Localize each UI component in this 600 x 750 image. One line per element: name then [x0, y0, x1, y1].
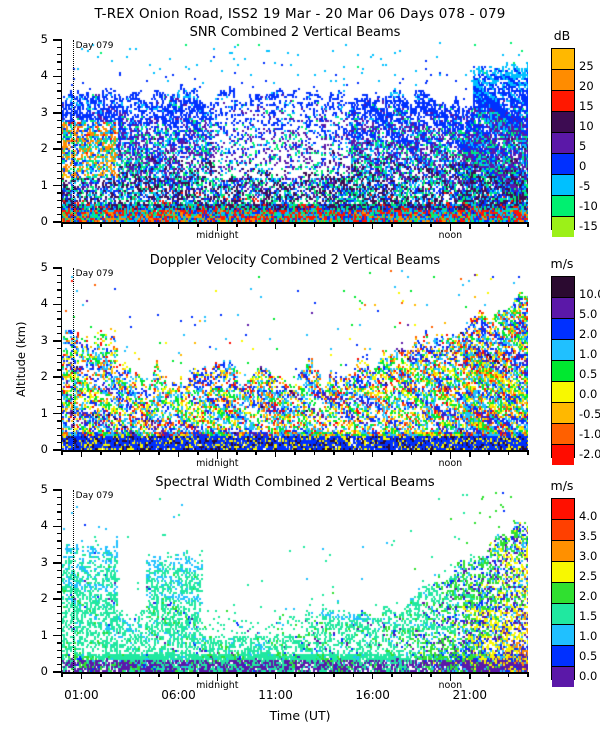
x-tick-label: 01:00	[41, 688, 121, 702]
x-tick-label: 16:00	[333, 688, 413, 702]
y-tick-minor	[57, 171, 62, 172]
y-tick-minor	[57, 61, 62, 62]
y-tick-minor	[57, 105, 62, 106]
colorbar-unit-spectral_width: m/s	[537, 478, 587, 493]
colorbar-tick-label: 2.0	[579, 589, 597, 603]
x-tick-minor	[411, 222, 413, 227]
colorbar-swatch	[552, 444, 574, 465]
plot-area-spectral_width	[62, 490, 528, 672]
colorbar-unit-snr: dB	[537, 28, 587, 43]
x-tick-major	[469, 672, 471, 679]
y-tick-label: 2	[26, 369, 48, 383]
y-tick-label: 3	[26, 105, 48, 119]
colorbar-swatch	[552, 132, 574, 153]
plot-area-snr	[62, 40, 528, 222]
x-tick-minor	[139, 672, 141, 677]
x-tick-minor	[411, 672, 413, 677]
colorbar-tick-label: 15	[579, 99, 594, 113]
x-tick-minor	[120, 672, 122, 677]
colorbar-tick-label: 0.5	[579, 367, 597, 381]
y-tick-minor	[57, 657, 62, 658]
y-tick-minor	[57, 504, 62, 505]
x-tick-major	[372, 222, 374, 229]
y-tick-minor	[57, 362, 62, 363]
y-tick-minor	[57, 369, 62, 370]
y-tick-minor	[57, 141, 62, 142]
x-tick-minor	[314, 672, 316, 677]
y-tick-minor	[57, 311, 62, 312]
colorbar-swatch	[552, 318, 574, 339]
y-tick-minor	[57, 613, 62, 614]
x-tick-minor	[333, 450, 335, 455]
y-tick-minor	[57, 355, 62, 356]
heatmap-doppler	[62, 268, 528, 450]
x-tick-minor	[158, 672, 160, 677]
y-tick-minor	[57, 519, 62, 520]
y-tick-minor	[57, 577, 62, 578]
y-tick-minor	[57, 348, 62, 349]
y-tick-minor	[57, 406, 62, 407]
y-tick-minor	[57, 326, 62, 327]
y-tick-minor	[57, 156, 62, 157]
y-tick-major	[53, 304, 62, 306]
y-tick-label: 0	[26, 214, 48, 228]
colorbar-spectral_width	[551, 498, 575, 680]
y-tick-major	[53, 489, 62, 491]
y-tick-minor	[57, 606, 62, 607]
y-tick-major	[53, 39, 62, 41]
y-tick-minor	[57, 548, 62, 549]
x-tick-minor	[411, 450, 413, 455]
x-tick-major	[372, 450, 374, 457]
colorbar-tick-label: 5	[579, 139, 586, 153]
x-tick-major	[275, 222, 277, 229]
colorbar-swatch	[552, 69, 574, 90]
y-tick-minor	[57, 399, 62, 400]
y-tick-label: 2	[26, 591, 48, 605]
panel-title-snr: SNR Combined 2 Vertical Beams	[62, 25, 528, 40]
y-tick-minor	[57, 442, 62, 443]
colorbar-tick-label: 2.5	[579, 569, 597, 583]
y-tick-minor	[57, 570, 62, 571]
y-axis-line-spectral_width	[61, 490, 63, 672]
x-tick-major	[178, 672, 180, 679]
x-tick-minor	[527, 222, 529, 227]
day-marker-label: Day 079	[76, 41, 114, 51]
colorbar-tick-label: 3.0	[579, 549, 597, 563]
y-tick-minor	[57, 384, 62, 385]
x-tick-minor	[508, 450, 510, 455]
y-tick-minor	[57, 318, 62, 319]
y-tick-minor	[57, 497, 62, 498]
x-tick-minor	[527, 672, 529, 677]
y-tick-minor	[57, 200, 62, 201]
x-tick-minor	[61, 222, 63, 227]
y-tick-minor	[57, 333, 62, 334]
x-tick-major	[81, 450, 83, 457]
y-tick-minor	[57, 289, 62, 290]
x-tick-minor	[527, 450, 529, 455]
y-tick-label: 5	[26, 32, 48, 46]
x-tick-minor	[100, 450, 102, 455]
y-tick-minor	[57, 120, 62, 121]
colorbar-tick-label: 5.0	[579, 307, 597, 321]
x-tick-major	[275, 672, 277, 679]
x-tick-minor	[139, 222, 141, 227]
x-tick-minor	[255, 450, 257, 455]
y-tick-minor	[57, 664, 62, 665]
y-tick-major	[53, 340, 62, 342]
x-tick-major	[275, 450, 277, 457]
colorbar-tick-label: -15	[579, 219, 598, 233]
y-tick-minor	[57, 420, 62, 421]
y-tick-label: 1	[26, 178, 48, 192]
y-tick-minor	[57, 54, 62, 55]
colorbar-tick-label: -0.5	[579, 407, 600, 421]
y-tick-minor	[57, 628, 62, 629]
y-tick-minor	[57, 178, 62, 179]
x-tick-minor	[391, 672, 393, 677]
day-marker-line	[73, 40, 74, 222]
colorbar-tick-label: 10.0	[579, 287, 600, 301]
colorbar-tick-label: 10	[579, 119, 594, 133]
y-tick-minor	[57, 69, 62, 70]
colorbar-snr	[551, 48, 575, 230]
y-tick-minor	[57, 47, 62, 48]
x-annotation-midnight: midnight	[187, 230, 247, 241]
heatmap-snr	[62, 40, 528, 222]
y-tick-minor	[57, 435, 62, 436]
x-tick-major	[469, 222, 471, 229]
colorbar-tick-label: 2.0	[579, 327, 597, 341]
y-tick-minor	[57, 621, 62, 622]
y-tick-minor	[57, 192, 62, 193]
colorbar-tick-label: -5	[579, 179, 590, 193]
y-tick-label: 1	[26, 628, 48, 642]
y-tick-major	[53, 598, 62, 600]
x-tick-minor	[430, 450, 432, 455]
x-tick-minor	[294, 222, 296, 227]
y-tick-major	[53, 267, 62, 269]
y-tick-minor	[57, 90, 62, 91]
colorbar-tick-label: 0.5	[579, 649, 597, 663]
colorbar-tick-label: 1.5	[579, 609, 597, 623]
x-tick-minor	[158, 222, 160, 227]
colorbar-swatch	[552, 216, 574, 237]
x-tick-minor	[139, 450, 141, 455]
x-annotation-noon: noon	[420, 458, 480, 469]
x-tick-minor	[391, 222, 393, 227]
figure-root: T-REX Onion Road, ISS2 19 Mar - 20 Mar 0…	[0, 0, 600, 750]
day-marker-line	[73, 268, 74, 450]
y-tick-label: 0	[26, 664, 48, 678]
x-tick-minor	[120, 450, 122, 455]
x-tick-minor	[353, 450, 355, 455]
y-tick-minor	[57, 297, 62, 298]
colorbar-tick-label: 3.5	[579, 529, 597, 543]
day-marker-label: Day 079	[76, 491, 114, 501]
y-tick-minor	[57, 591, 62, 592]
y-tick-major	[53, 413, 62, 415]
x-tick-minor	[314, 450, 316, 455]
x-tick-minor	[508, 222, 510, 227]
x-tick-major	[178, 450, 180, 457]
x-tick-label: 11:00	[236, 688, 316, 702]
x-tick-minor	[100, 222, 102, 227]
x-axis-title: Time (UT)	[0, 708, 600, 723]
colorbar-swatch	[552, 90, 574, 111]
y-tick-label: 0	[26, 442, 48, 456]
colorbar-tick-label: 0	[579, 159, 586, 173]
colorbar-swatch	[552, 603, 574, 624]
x-tick-minor	[197, 450, 199, 455]
x-tick-minor	[488, 222, 490, 227]
y-tick-minor	[57, 642, 62, 643]
y-tick-minor	[57, 540, 62, 541]
y-tick-label: 4	[26, 68, 48, 82]
colorbar-tick-label: 1.0	[579, 347, 597, 361]
colorbar-swatch	[552, 519, 574, 540]
colorbar-swatch	[552, 561, 574, 582]
x-tick-minor	[255, 672, 257, 677]
y-tick-minor	[57, 214, 62, 215]
colorbar-swatch	[552, 153, 574, 174]
colorbar-swatch	[552, 624, 574, 645]
x-tick-minor	[333, 222, 335, 227]
y-tick-label: 2	[26, 141, 48, 155]
y-tick-major	[53, 185, 62, 187]
x-tick-major	[81, 222, 83, 229]
figure-title: T-REX Onion Road, ISS2 19 Mar - 20 Mar 0…	[0, 6, 600, 22]
colorbar-swatch	[552, 402, 574, 423]
y-tick-label: 5	[26, 482, 48, 496]
x-tick-minor	[353, 222, 355, 227]
y-tick-major	[53, 562, 62, 564]
colorbar-doppler	[551, 276, 575, 458]
x-tick-minor	[430, 672, 432, 677]
colorbar-swatch	[552, 666, 574, 687]
x-annotation-noon: noon	[420, 230, 480, 241]
colorbar-swatch	[552, 174, 574, 195]
x-tick-minor	[120, 222, 122, 227]
y-axis-line-doppler	[61, 268, 63, 450]
x-tick-minor	[236, 672, 238, 677]
y-tick-label: 4	[26, 296, 48, 310]
colorbar-swatch	[552, 381, 574, 402]
x-tick-minor	[294, 672, 296, 677]
y-tick-minor	[57, 428, 62, 429]
colorbar-swatch	[552, 645, 574, 666]
x-tick-label: 06:00	[139, 688, 219, 702]
y-tick-minor	[57, 98, 62, 99]
y-tick-label: 3	[26, 555, 48, 569]
panel-title-spectral_width: Spectral Width Combined 2 Vertical Beams	[62, 475, 528, 490]
y-tick-minor	[57, 391, 62, 392]
x-annotation-midnight: midnight	[187, 458, 247, 469]
y-axis-line-snr	[61, 40, 63, 222]
y-tick-major	[53, 376, 62, 378]
colorbar-swatch	[552, 582, 574, 603]
colorbar-tick-label: 0.0	[579, 387, 597, 401]
x-tick-minor	[236, 450, 238, 455]
x-tick-minor	[197, 222, 199, 227]
x-tick-major	[372, 672, 374, 679]
x-tick-minor	[236, 222, 238, 227]
x-tick-minor	[353, 672, 355, 677]
y-tick-minor	[57, 511, 62, 512]
y-tick-minor	[57, 275, 62, 276]
y-tick-label: 1	[26, 406, 48, 420]
y-tick-minor	[57, 83, 62, 84]
x-tick-major	[81, 672, 83, 679]
x-tick-minor	[61, 672, 63, 677]
x-tick-minor	[100, 672, 102, 677]
y-tick-minor	[57, 650, 62, 651]
x-tick-minor	[255, 222, 257, 227]
x-tick-major	[469, 450, 471, 457]
x-tick-minor	[158, 450, 160, 455]
x-tick-minor	[333, 672, 335, 677]
day-marker-label: Day 079	[76, 269, 114, 279]
x-tick-label: 21:00	[430, 688, 510, 702]
colorbar-swatch	[552, 195, 574, 216]
x-tick-minor	[430, 222, 432, 227]
plot-area-doppler	[62, 268, 528, 450]
y-tick-minor	[57, 207, 62, 208]
heatmap-spectral_width	[62, 490, 528, 672]
y-tick-major	[53, 148, 62, 150]
colorbar-tick-label: 25	[579, 59, 594, 73]
colorbar-swatch	[552, 339, 574, 360]
y-tick-label: 5	[26, 260, 48, 274]
y-tick-minor	[57, 584, 62, 585]
colorbar-swatch	[552, 297, 574, 318]
colorbar-tick-label: -2.0	[579, 447, 600, 461]
day-marker-line	[73, 490, 74, 672]
colorbar-tick-label: 4.0	[579, 509, 597, 523]
x-tick-minor	[391, 450, 393, 455]
y-tick-minor	[57, 134, 62, 135]
y-tick-major	[53, 635, 62, 637]
colorbar-swatch	[552, 499, 574, 519]
x-tick-major	[178, 222, 180, 229]
colorbar-tick-label: -1.0	[579, 427, 600, 441]
x-tick-minor	[314, 222, 316, 227]
x-tick-minor	[197, 672, 199, 677]
x-tick-minor	[488, 450, 490, 455]
colorbar-tick-label: 20	[579, 79, 594, 93]
colorbar-swatch	[552, 277, 574, 297]
y-tick-minor	[57, 282, 62, 283]
panel-title-doppler: Doppler Velocity Combined 2 Vertical Bea…	[62, 253, 528, 268]
y-tick-major	[53, 112, 62, 114]
colorbar-unit-doppler: m/s	[537, 256, 587, 271]
y-tick-minor	[57, 163, 62, 164]
y-tick-minor	[57, 533, 62, 534]
colorbar-swatch	[552, 49, 574, 69]
x-tick-minor	[61, 450, 63, 455]
x-tick-minor	[294, 450, 296, 455]
colorbar-swatch	[552, 423, 574, 444]
colorbar-tick-label: 0.0	[579, 669, 597, 683]
colorbar-tick-label: -10	[579, 199, 598, 213]
y-tick-minor	[57, 127, 62, 128]
y-tick-label: 4	[26, 518, 48, 532]
y-tick-major	[53, 76, 62, 78]
y-tick-label: 3	[26, 333, 48, 347]
colorbar-swatch	[552, 360, 574, 381]
colorbar-swatch	[552, 540, 574, 561]
colorbar-tick-label: 1.0	[579, 629, 597, 643]
y-tick-minor	[57, 555, 62, 556]
x-tick-minor	[488, 672, 490, 677]
x-tick-minor	[508, 672, 510, 677]
y-tick-major	[53, 526, 62, 528]
colorbar-swatch	[552, 111, 574, 132]
